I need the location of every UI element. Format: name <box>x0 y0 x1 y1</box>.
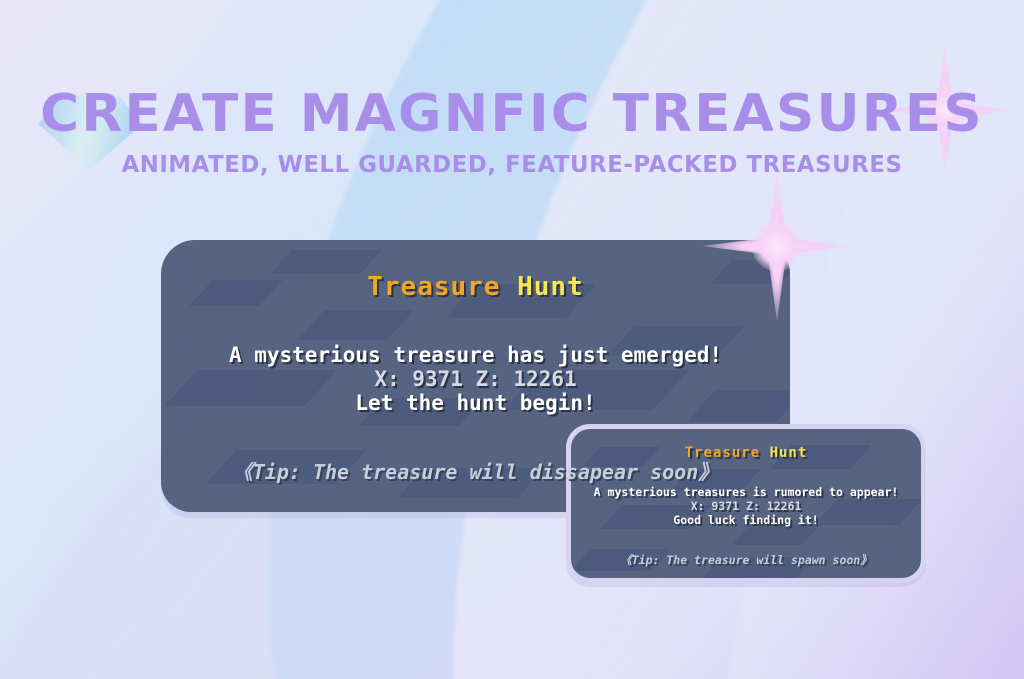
header-block: CREATE MAGNFIC TREASURES ANIMATED, WELL … <box>0 88 1024 177</box>
sparkle-ray-vertical <box>936 45 954 175</box>
dialog-line-1: A mysterious treasures is rumored to app… <box>571 485 921 499</box>
dialog-tip: 《Tip: The treasure will spawn soon》 <box>571 552 921 568</box>
dialog-title: Treasure Hunt <box>161 272 790 302</box>
page-subtitle: ANIMATED, WELL GUARDED, FEATURE-PACKED T… <box>5 154 1019 177</box>
diamond-gem-icon <box>38 96 142 170</box>
dialog-title-word-1: Treasure <box>685 445 760 461</box>
dialog-title: Treasure Hunt <box>571 445 921 461</box>
dialog-title-word-2: Hunt <box>517 272 584 302</box>
page-title: CREATE MAGNFIC TREASURES <box>0 88 1024 140</box>
sparkle-core <box>923 88 967 132</box>
treasure-hunt-dialog-secondary[interactable]: Treasure Hunt A mysterious treasures is … <box>566 424 926 583</box>
dialog-content: Treasure Hunt A mysterious treasures is … <box>571 445 921 583</box>
dialog-coordinates: X: 9371 Z: 12261 <box>571 499 921 513</box>
dialog-line-1: A mysterious treasure has just emerged! <box>161 343 790 367</box>
dialog-line-3: Good luck finding it! <box>571 513 921 527</box>
dialog-title-word-1: Treasure <box>367 272 500 302</box>
sparkle-ray-horizontal <box>880 102 1010 119</box>
sparkle-icon <box>880 45 1010 175</box>
dialog-title-word-2: Hunt <box>770 445 808 461</box>
dialog-line-3: Let the hunt begin! <box>161 391 790 415</box>
promotional-banner: CREATE MAGNFIC TREASURES ANIMATED, WELL … <box>0 0 1024 679</box>
dialog-coordinates: X: 9371 Z: 12261 <box>161 367 790 391</box>
